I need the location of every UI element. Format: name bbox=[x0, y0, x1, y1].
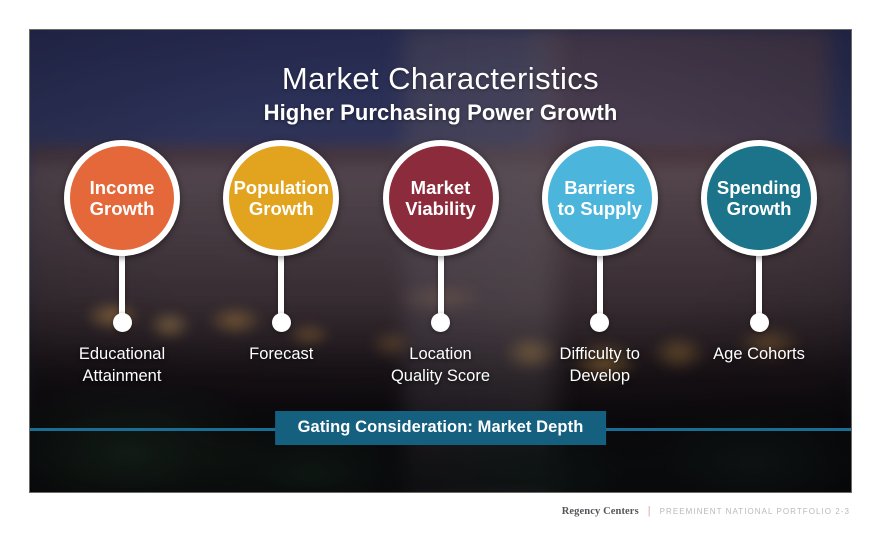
bubble-label: Market Viability bbox=[389, 177, 493, 220]
bubble-barriers-to-supply[interactable]: Barriers to Supply bbox=[542, 140, 658, 256]
footer-brand: Regency Centers bbox=[562, 506, 639, 517]
bubble-label: Barriers to Supply bbox=[548, 177, 652, 220]
metric-label-location-quality-score: Location Quality Score bbox=[391, 343, 490, 388]
pin-market-viability[interactable]: Market Viability Location Quality Score bbox=[363, 140, 519, 388]
bubble-market-viability[interactable]: Market Viability bbox=[383, 140, 499, 256]
metric-label-difficulty-to-develop: Difficulty to Develop bbox=[560, 343, 640, 388]
pin-income-growth[interactable]: Income Growth Educational Attainment bbox=[44, 140, 200, 388]
metric-label-age-cohorts: Age Cohorts bbox=[713, 343, 805, 365]
pin-dot bbox=[431, 313, 450, 332]
bubble-label: Population Growth bbox=[227, 177, 335, 220]
pin-stem bbox=[756, 253, 762, 317]
bubble-label: Spending Growth bbox=[707, 177, 811, 220]
pin-dot bbox=[750, 313, 769, 332]
bubble-population-growth[interactable]: Population Growth bbox=[223, 140, 339, 256]
metric-label-educational-attainment: Educational Attainment bbox=[79, 343, 165, 388]
pin-stem bbox=[597, 253, 603, 317]
metric-label-forecast: Forecast bbox=[249, 343, 313, 365]
bubble-spending-growth[interactable]: Spending Growth bbox=[701, 140, 817, 256]
gating-consideration-banner: Gating Consideration: Market Depth bbox=[275, 411, 607, 445]
pin-spending-growth[interactable]: Spending Growth Age Cohorts bbox=[681, 140, 837, 365]
pin-barriers-to-supply[interactable]: Barriers to Supply Difficulty to Develop bbox=[522, 140, 678, 388]
pin-stem bbox=[119, 253, 125, 317]
pin-dot bbox=[113, 313, 132, 332]
footer: Regency Centers | PREEMINENT NATIONAL PO… bbox=[562, 505, 850, 517]
footer-separator: | bbox=[648, 505, 651, 517]
pin-dot bbox=[590, 313, 609, 332]
pin-population-growth[interactable]: Population Growth Forecast bbox=[203, 140, 359, 365]
pin-dot bbox=[272, 313, 291, 332]
pin-stem bbox=[278, 253, 284, 317]
pin-row: Income Growth Educational Attainment Pop… bbox=[44, 140, 837, 440]
slide-canvas: Market Characteristics Higher Purchasing… bbox=[29, 29, 852, 493]
bubble-income-growth[interactable]: Income Growth bbox=[64, 140, 180, 256]
pin-stem bbox=[438, 253, 444, 317]
page-subtitle: Higher Purchasing Power Growth bbox=[30, 100, 851, 126]
footer-meta: PREEMINENT NATIONAL PORTFOLIO 2-3 bbox=[660, 507, 850, 516]
page-title: Market Characteristics bbox=[30, 62, 851, 95]
title-block: Market Characteristics Higher Purchasing… bbox=[30, 62, 851, 126]
bubble-label: Income Growth bbox=[70, 177, 174, 220]
